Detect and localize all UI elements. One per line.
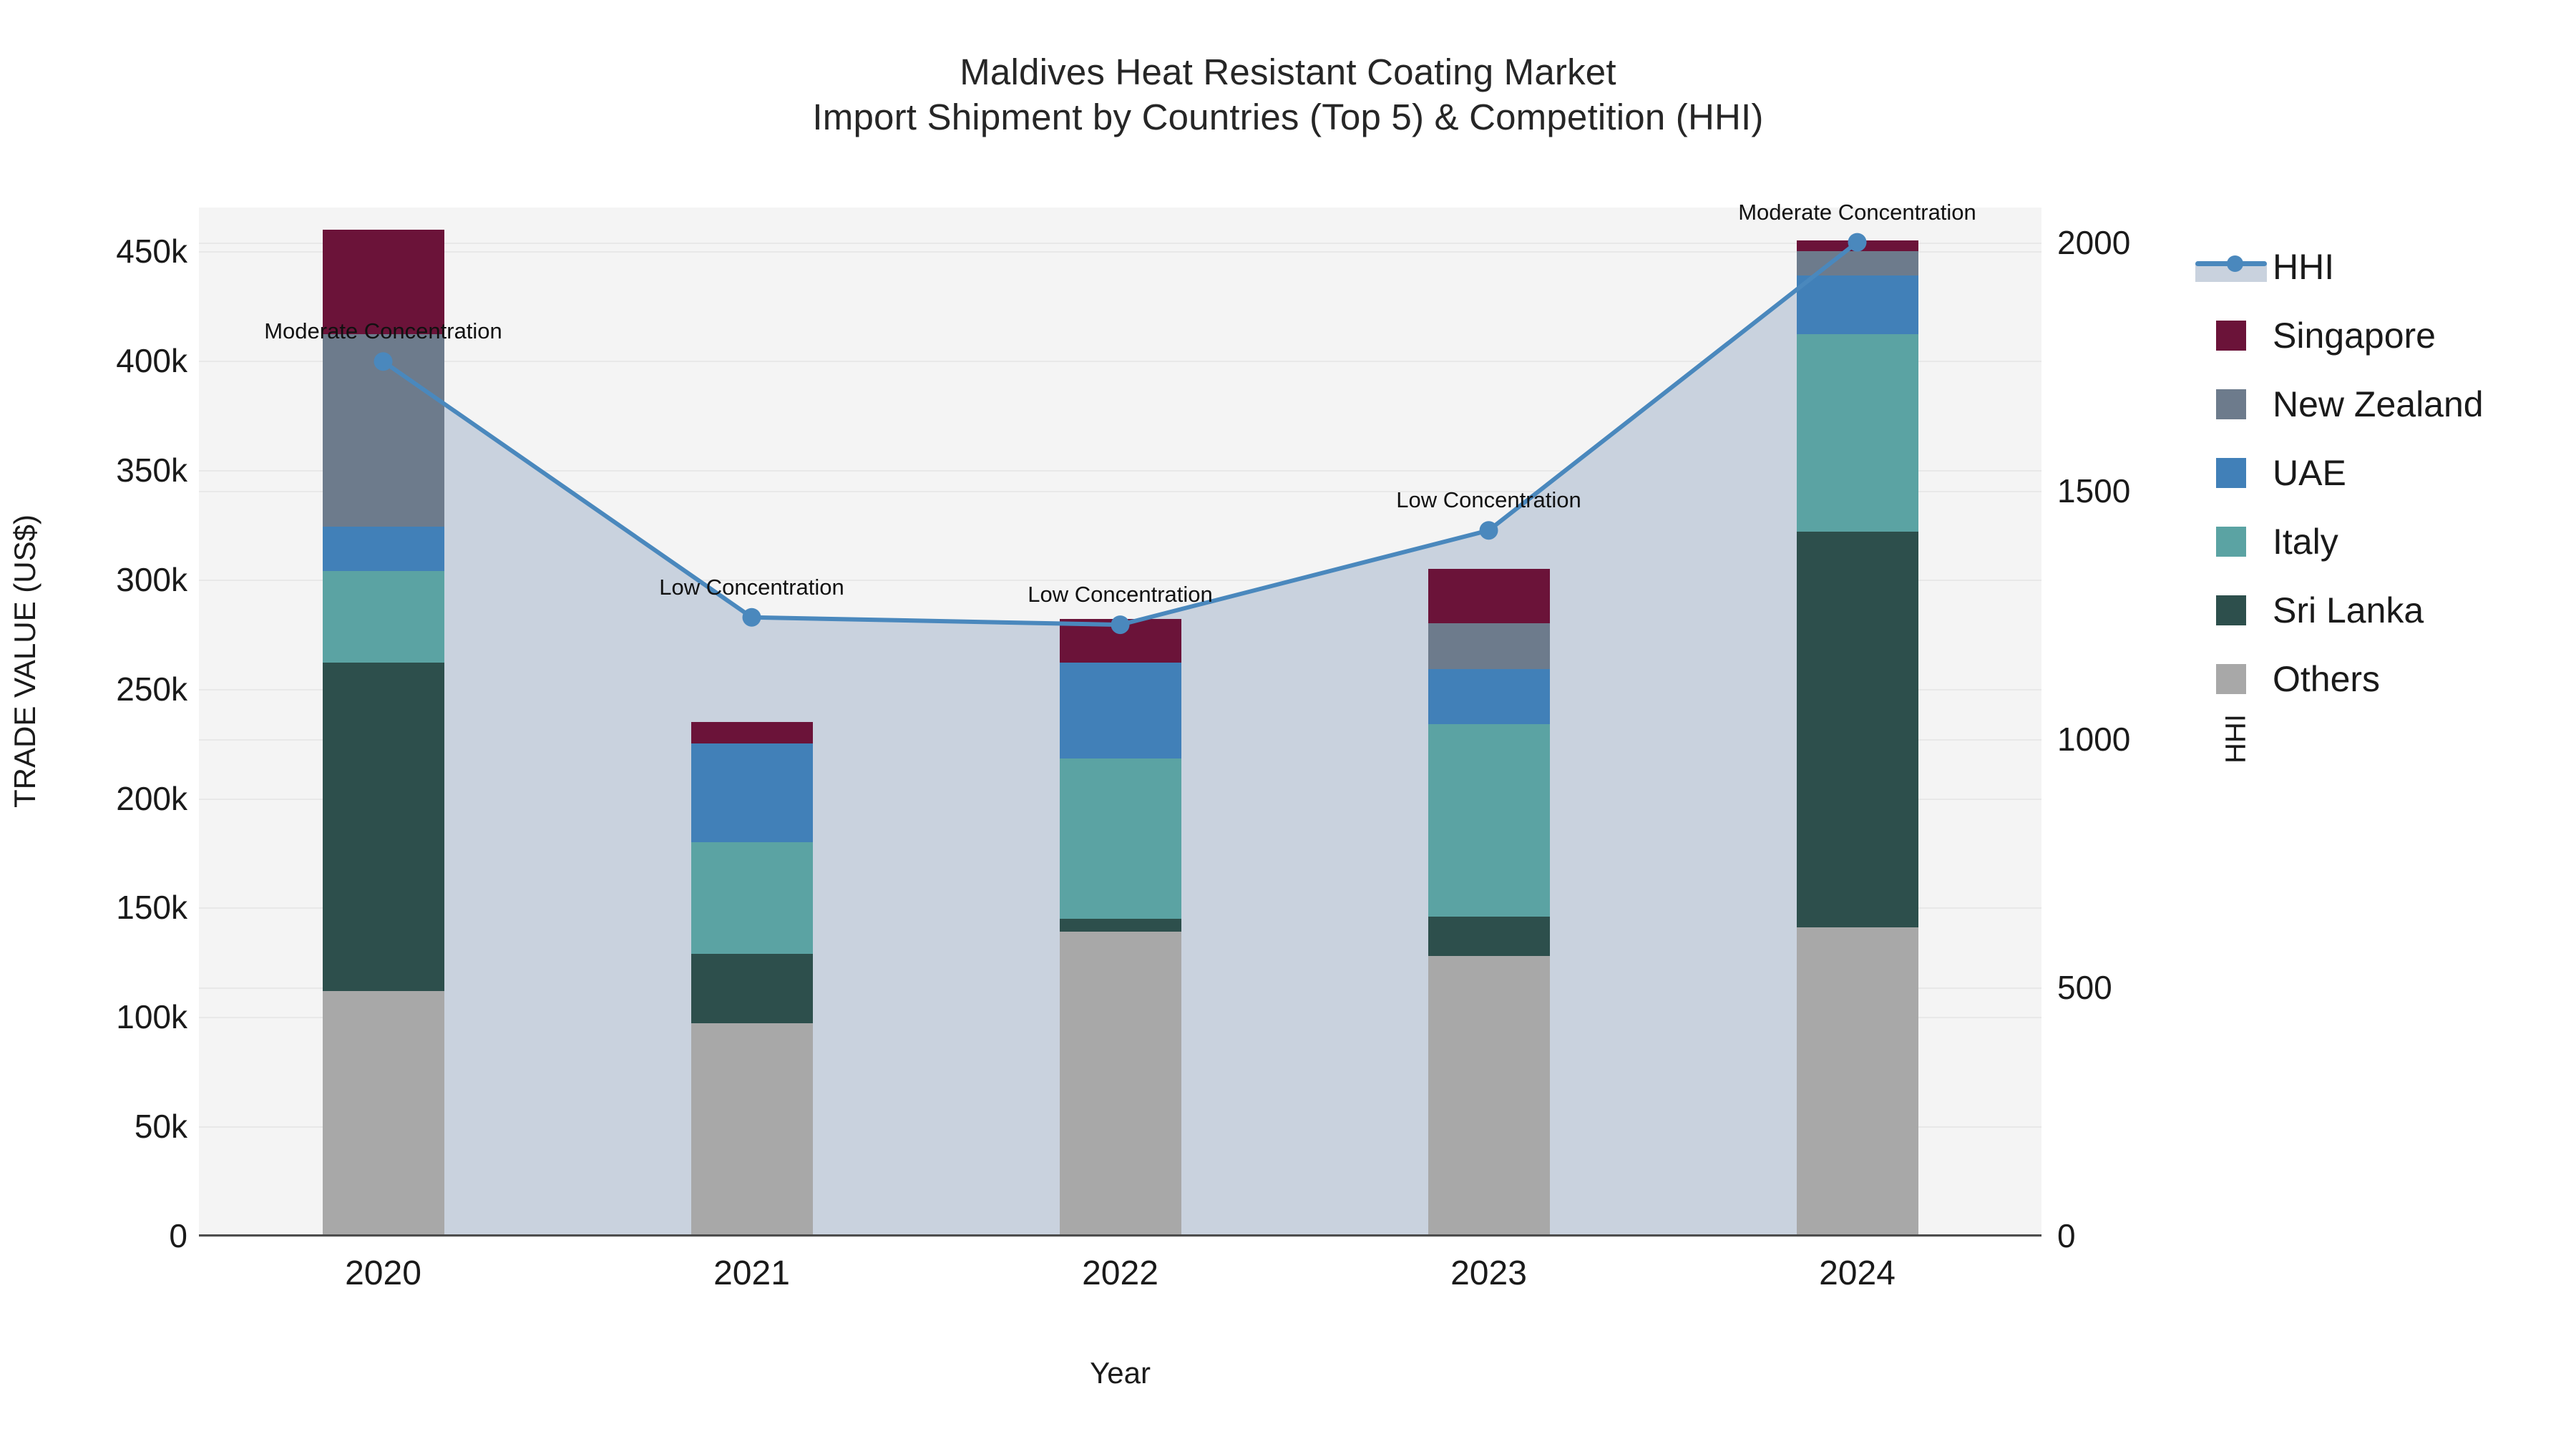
- y-axis-left-tick-label: 200k: [116, 779, 187, 818]
- bar-segment-singapore[interactable]: [1060, 619, 1181, 663]
- bar-stacks: [199, 208, 2041, 1236]
- y-axis-left-tick-label: 350k: [116, 451, 187, 489]
- bar-segment-sri-lanka[interactable]: [1060, 919, 1181, 932]
- y-axis-left-label: TRADE VALUE (US$): [8, 482, 42, 840]
- bar-segment-uae[interactable]: [691, 743, 813, 842]
- legend-line-icon: [2190, 247, 2273, 287]
- bar-segment-uae[interactable]: [1428, 669, 1550, 723]
- legend-swatch: [2216, 527, 2246, 557]
- y-axis-left-tick-label: 0: [169, 1216, 187, 1255]
- bar-segment-sri-lanka[interactable]: [1797, 532, 1918, 927]
- chart-figure: Maldives Heat Resistant Coating Market I…: [0, 0, 2576, 1449]
- bar-stack[interactable]: [1060, 208, 1181, 1236]
- bar-segment-new-zealand[interactable]: [1797, 251, 1918, 275]
- y-axis-left-tick-label: 250k: [116, 670, 187, 708]
- bar-segment-singapore[interactable]: [1428, 569, 1550, 623]
- legend-item-sri-lanka[interactable]: Sri Lanka: [2190, 576, 2576, 645]
- hhi-annotation: Low Concentration: [659, 575, 844, 600]
- bar-segment-sri-lanka[interactable]: [1428, 917, 1550, 956]
- hhi-annotation: Moderate Concentration: [1738, 200, 1976, 225]
- legend-item-new-zealand[interactable]: New Zealand: [2190, 370, 2576, 439]
- legend-swatch-icon: [2190, 659, 2273, 699]
- y-axis-left-tick-label: 400k: [116, 341, 187, 380]
- bar-segment-singapore[interactable]: [1797, 240, 1918, 251]
- bar-stack[interactable]: [1797, 208, 1918, 1236]
- legend-swatch-icon: [2190, 522, 2273, 562]
- x-axis-tick-label: 2020: [345, 1254, 421, 1293]
- y-axis-left-tick-label: 150k: [116, 888, 187, 927]
- bar-segment-italy[interactable]: [1060, 758, 1181, 918]
- bar-segment-italy[interactable]: [691, 842, 813, 954]
- y-axis-right-tick-label: 1000: [2057, 720, 2130, 758]
- y-axis-right-tick-label: 500: [2057, 968, 2112, 1007]
- bar-stack[interactable]: [1428, 208, 1550, 1236]
- legend-swatch-icon: [2190, 384, 2273, 424]
- plot-area: [199, 208, 2041, 1236]
- legend-item-italy[interactable]: Italy: [2190, 507, 2576, 576]
- bar-segment-new-zealand[interactable]: [1428, 623, 1550, 669]
- x-axis-tick-label: 2023: [1450, 1254, 1527, 1293]
- y-axis-right-tick-label: 0: [2057, 1216, 2076, 1255]
- bar-segment-others[interactable]: [1428, 956, 1550, 1236]
- legend-item-hhi[interactable]: HHI: [2190, 233, 2576, 301]
- bar-stack[interactable]: [691, 208, 813, 1236]
- bar-segment-others[interactable]: [691, 1023, 813, 1236]
- y-axis-left-tick-label: 50k: [135, 1107, 187, 1146]
- legend-item-label: Italy: [2273, 524, 2338, 560]
- legend-swatch-icon: [2190, 453, 2273, 493]
- x-axis-tick-label: 2022: [1082, 1254, 1158, 1293]
- bar-segment-others[interactable]: [1797, 927, 1918, 1236]
- chart-legend: HHISingaporeNew ZealandUAEItalySri Lanka…: [2190, 233, 2576, 713]
- legend-swatch: [2216, 389, 2246, 419]
- legend-swatch-icon: [2190, 316, 2273, 356]
- legend-item-uae[interactable]: UAE: [2190, 439, 2576, 507]
- legend-item-label: New Zealand: [2273, 386, 2484, 422]
- legend-swatch-icon: [2190, 590, 2273, 630]
- bar-segment-sri-lanka[interactable]: [691, 954, 813, 1024]
- y-axis-left-tick-label: 100k: [116, 997, 187, 1036]
- legend-swatch: [2216, 664, 2246, 694]
- bar-segment-uae[interactable]: [1060, 663, 1181, 759]
- bar-segment-singapore[interactable]: [691, 722, 813, 744]
- legend-item-label: Singapore: [2273, 318, 2436, 353]
- y-axis-right-tick-label: 2000: [2057, 223, 2130, 262]
- bar-segment-others[interactable]: [1060, 932, 1181, 1236]
- bar-segment-italy[interactable]: [323, 571, 444, 663]
- y-axis-left-tick-label: 450k: [116, 232, 187, 270]
- y-axis-right-tick-label: 1500: [2057, 472, 2130, 510]
- legend-item-label: Others: [2273, 661, 2380, 697]
- hhi-annotation: Low Concentration: [1396, 487, 1581, 513]
- legend-item-others[interactable]: Others: [2190, 645, 2576, 713]
- bar-segment-uae[interactable]: [323, 527, 444, 570]
- hhi-annotation: Low Concentration: [1028, 582, 1213, 608]
- legend-swatch: [2216, 458, 2246, 488]
- bar-segment-italy[interactable]: [1428, 724, 1550, 917]
- y-axis-left-tick-label: 300k: [116, 560, 187, 599]
- x-axis-tick-label: 2021: [713, 1254, 790, 1293]
- x-axis-line: [199, 1234, 2041, 1236]
- bar-segment-uae[interactable]: [1797, 275, 1918, 335]
- bar-segment-new-zealand[interactable]: [323, 334, 444, 527]
- legend-swatch: [2216, 595, 2246, 625]
- bar-segment-italy[interactable]: [1797, 334, 1918, 531]
- hhi-annotation: Moderate Concentration: [264, 318, 502, 344]
- x-axis-tick-label: 2024: [1819, 1254, 1896, 1293]
- bar-segment-others[interactable]: [323, 991, 444, 1236]
- legend-item-label: HHI: [2273, 249, 2334, 285]
- legend-swatch: [2216, 321, 2246, 351]
- legend-item-label: Sri Lanka: [2273, 592, 2424, 628]
- bar-segment-sri-lanka[interactable]: [323, 663, 444, 991]
- legend-item-label: UAE: [2273, 455, 2346, 491]
- x-axis-label: Year: [199, 1356, 2041, 1390]
- legend-item-singapore[interactable]: Singapore: [2190, 301, 2576, 370]
- bar-stack[interactable]: [323, 208, 444, 1236]
